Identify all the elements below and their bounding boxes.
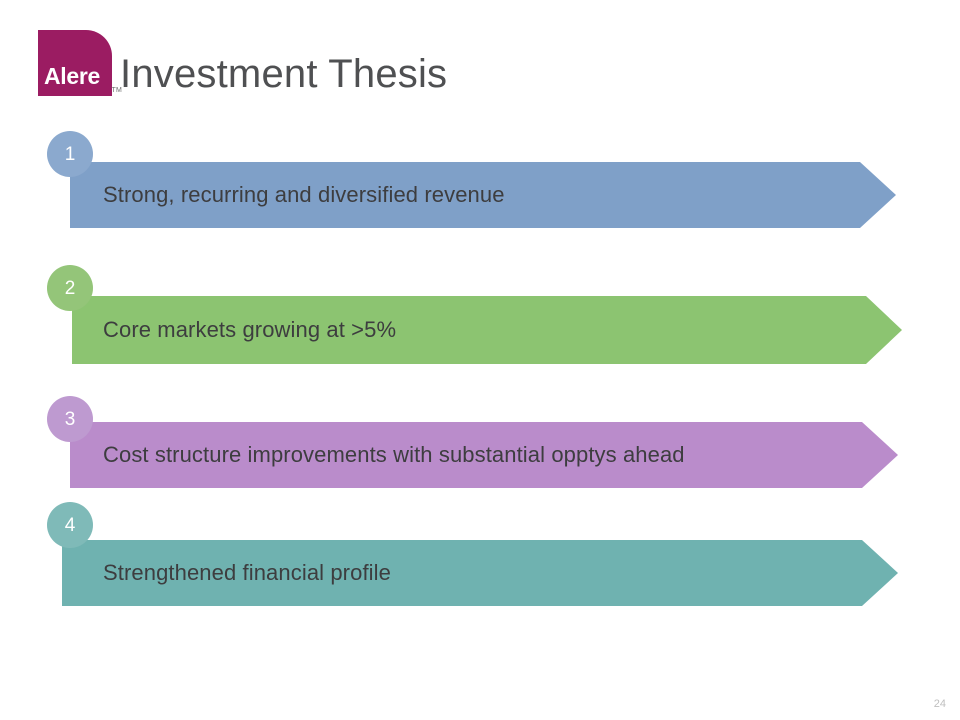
alere-logo: Alere TM — [38, 30, 112, 96]
step-badge-number-4: 4 — [65, 516, 76, 535]
logo-wordmark: Alere — [38, 30, 112, 96]
slide-header: Alere TM Investment Thesis — [0, 0, 960, 120]
slide-canvas: Alere TM Investment Thesis Strong, recur… — [0, 0, 960, 720]
arrow-banner-3: Cost structure improvements with substan… — [70, 422, 898, 488]
step-badge-4: 4 — [47, 502, 93, 548]
thesis-label-3: Cost structure improvements with substan… — [103, 442, 685, 468]
thesis-label-1: Strong, recurring and diversified revenu… — [103, 182, 505, 208]
arrow-banner-4: Strengthened financial profile — [62, 540, 898, 606]
thesis-label-4: Strengthened financial profile — [103, 560, 391, 586]
slide-page-number: 24 — [934, 698, 946, 710]
page-title: Investment Thesis — [120, 52, 447, 97]
step-badge-number-1: 1 — [65, 145, 76, 164]
step-badge-2: 2 — [47, 265, 93, 311]
step-badge-number-2: 2 — [65, 279, 76, 298]
step-badge-3: 3 — [47, 396, 93, 442]
arrow-banner-2: Core markets growing at >5% — [72, 296, 902, 364]
thesis-label-2: Core markets growing at >5% — [103, 317, 396, 343]
step-badge-number-3: 3 — [65, 410, 76, 429]
arrow-banner-1: Strong, recurring and diversified revenu… — [70, 162, 896, 228]
step-badge-1: 1 — [47, 131, 93, 177]
